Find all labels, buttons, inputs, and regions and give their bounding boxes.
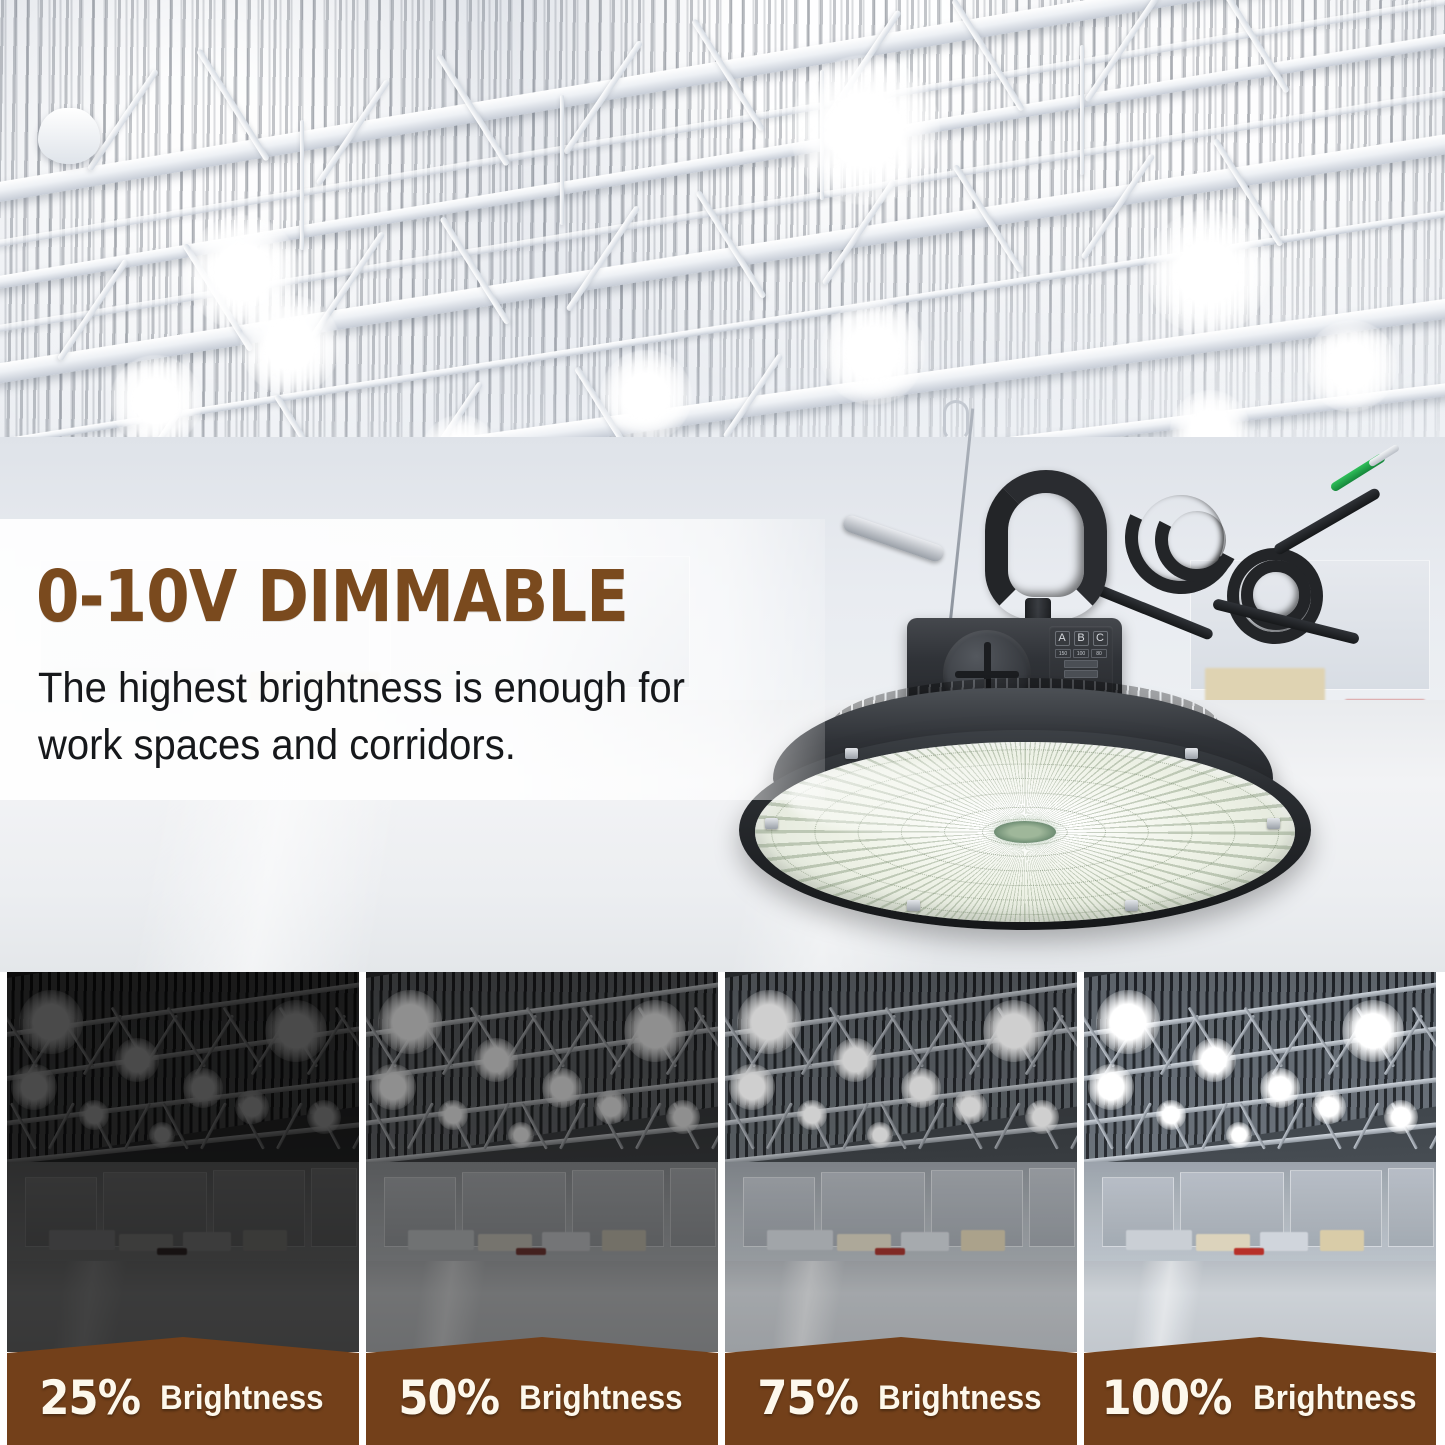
subtitle-line-1: The highest brightness is enough for [38,660,773,717]
led-lens-array [755,742,1295,922]
warehouse-scene [725,972,1077,1352]
brightness-caption: 50% Brightness [366,1337,718,1445]
lens-retaining-clip [1267,818,1280,829]
stacked-pallets [767,1230,833,1250]
lens-retaining-clip [1125,900,1138,911]
ceiling-lamp-glow [307,1100,341,1134]
stacked-pallets [183,1232,231,1251]
lens-retaining-clip [765,818,778,829]
page-title: 0-10V DIMMABLE [36,561,705,632]
brightness-percent: 75% [757,1371,858,1426]
ceiling-lamp-glow [1312,1090,1346,1124]
page-subtitle: The highest brightness is enough for wor… [38,660,773,774]
stacked-pallets [1126,1230,1192,1250]
stacked-pallets [1260,1232,1308,1251]
ceiling-lamp-glow [474,1038,518,1082]
ceiling-lamp-glow [110,355,202,447]
ceiling-lamp-glow [235,1090,269,1124]
ceiling-lamp-glow [1145,210,1270,335]
ceiling-hanger [1080,45,1084,175]
lens-highlight [787,760,1122,839]
warehouse-photo [7,972,359,1352]
wattage-row: 150 100 80 [1053,649,1109,658]
warehouse-scene [7,972,359,1352]
stacked-pallets [961,1230,1005,1251]
ceiling-lamp-glow [1088,1064,1134,1110]
stacked-pallets [243,1230,287,1251]
abc-selector-row: A B C [1053,631,1109,646]
ceiling-lamp-glow [183,1068,223,1108]
warehouse-photo [1084,972,1436,1352]
stacked-pallets [1320,1230,1364,1251]
ceiling-lamp-glow [1384,1100,1418,1134]
ceiling-lamp-glow [508,1122,534,1148]
ceiling-lamp-glow [790,55,940,205]
hook-pin [841,513,946,563]
red-crate [516,1248,546,1255]
wire-conductor-tip [1368,444,1401,468]
pendant-lamp [38,108,100,164]
product-feature-image: A B C 150 100 80 [0,0,1445,1445]
ceiling-lamp-glow [1096,990,1160,1054]
brightness-label: Brightness [1253,1379,1416,1418]
ceiling-lamp-glow [1192,1038,1236,1082]
ceiling-lamp-glow [370,1064,416,1110]
warehouse-scene [366,972,718,1352]
brightness-label: Brightness [879,1379,1042,1418]
ceiling-lamp-glow [79,1100,109,1130]
ceiling-hanger [560,95,564,225]
ceiling-lamp-glow [265,1000,327,1062]
brightness-75: 75% Brightness [725,972,1077,1445]
lens-retaining-clip [907,900,920,911]
safety-cable [949,408,974,622]
ceiling-lamp-glow [953,1090,987,1124]
cable-clip-icon [943,400,969,440]
brightness-50: 50% Brightness [366,972,718,1445]
warehouse-door [311,1168,357,1247]
stacked-pallets [901,1232,949,1251]
ceiling-lamp-glow [983,1000,1045,1062]
brightness-caption: 25% Brightness [7,1337,359,1445]
ceiling-lamp-glow [1305,320,1397,412]
ceiling-lamp-glow [666,1100,700,1134]
selector-c: C [1093,631,1108,646]
ceiling-lamp-glow [1025,1100,1059,1134]
ceiling-hanger [300,120,304,250]
subtitle-line-2: work spaces and corridors. [38,717,773,774]
stacked-pallets [408,1230,474,1250]
selector-a: A [1055,631,1070,646]
ceiling-lamp-glow [1156,1100,1186,1130]
label-bar [1064,670,1098,678]
red-crate [157,1248,187,1255]
brightness-label: Brightness [161,1379,324,1418]
brightness-caption: 100% Brightness [1084,1337,1436,1445]
ceiling-lamp-glow [833,1038,877,1082]
ceiling-lamp-glow [542,1068,582,1108]
ceiling-lamp-glow [438,1100,468,1130]
ceiling-lamp-glow [600,350,692,442]
lens-retaining-clip [845,748,858,759]
wattage-b: 100 [1073,649,1089,658]
ceiling-lamp-glow [1342,1000,1404,1062]
ceiling-lamp-glow [820,300,925,405]
red-crate [875,1248,905,1255]
stacked-pallets [602,1230,646,1251]
warehouse-door [1388,1168,1434,1247]
brightness-percent: 50% [398,1371,499,1426]
stacked-pallets [49,1230,115,1250]
red-crate [1234,1248,1264,1255]
ceiling-lamp-glow [1226,1122,1252,1148]
ceiling-lamp-glow [1260,1068,1300,1108]
warehouse-photo [725,972,1077,1352]
ceiling-lamp-glow [240,295,340,395]
ceiling-lamp-glow [115,1038,159,1082]
brightness-comparison-row: 25% Brightness 50% Brightness [0,972,1445,1445]
ceiling-lamp-glow [11,1064,57,1110]
power-lead-wire [1272,487,1381,557]
stacked-pallets [542,1232,590,1251]
ceiling-lamp-glow [378,990,442,1054]
brightness-100: 100% Brightness [1084,972,1436,1445]
ceiling-lamp-glow [149,1122,175,1148]
ceiling-lamp-glow [729,1064,775,1110]
warehouse-photo [366,972,718,1352]
wattage-c: 80 [1091,649,1107,658]
warehouse-scene [1084,972,1436,1352]
warehouse-door [1029,1168,1075,1247]
brightness-caption: 75% Brightness [725,1337,1077,1445]
wattage-a: 150 [1055,649,1071,658]
brightness-label: Brightness [520,1379,683,1418]
warehouse-door [670,1168,716,1247]
label-bar [1064,660,1098,668]
selector-b: B [1074,631,1089,646]
ceiling-lamp-glow [867,1122,893,1148]
hero-scene: A B C 150 100 80 [0,0,1445,972]
ceiling-lamp-glow [737,990,801,1054]
ceiling-lamp-glow [594,1090,628,1124]
lens-retaining-clip [1185,748,1198,759]
ceiling-lamp-glow [901,1068,941,1108]
brightness-percent: 25% [39,1371,140,1426]
ceiling-lamp-glow [624,1000,686,1062]
ceiling-lamp-glow [797,1100,827,1130]
ceiling-lamp-glow [19,990,83,1054]
brightness-percent: 100% [1102,1371,1232,1426]
brightness-25: 25% Brightness [7,972,359,1445]
